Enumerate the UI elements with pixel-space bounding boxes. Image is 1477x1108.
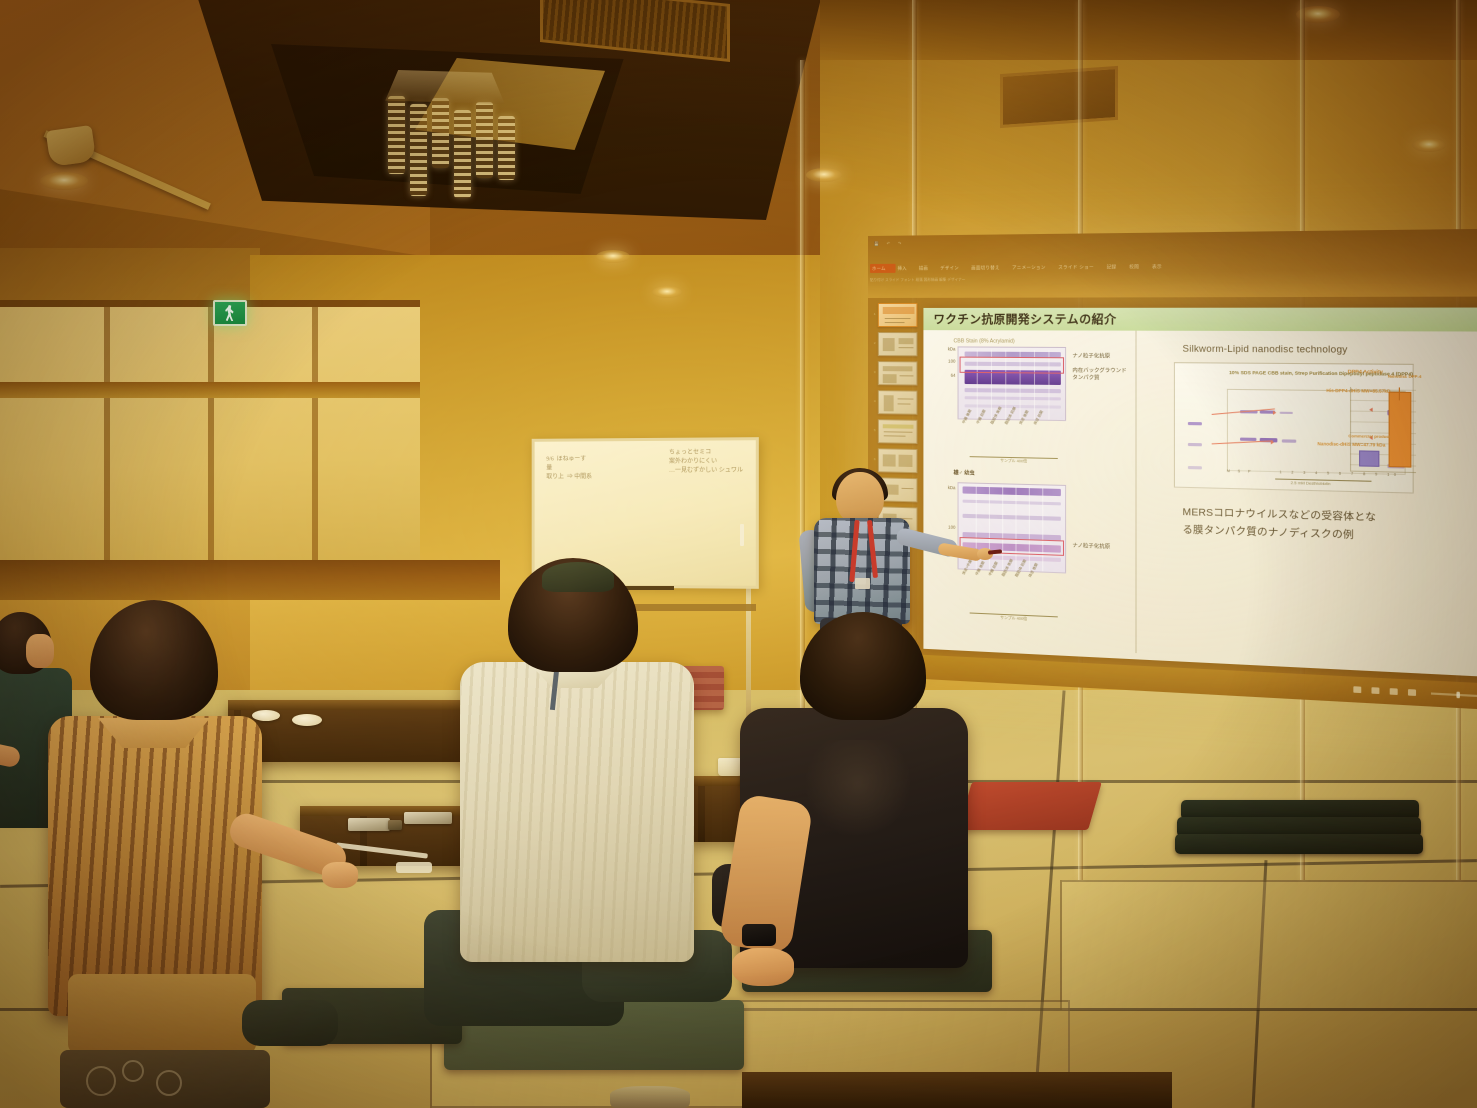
gel-a-callout-background: 内在バックグラウンド タンパク質 — [1072, 368, 1126, 383]
tab-home[interactable]: ホーム — [872, 266, 886, 272]
quick-access-toolbar[interactable]: 💾 ↶ ↷ — [874, 241, 901, 246]
slide-thumbnail[interactable]: 4 — [878, 390, 918, 415]
slide-thumbnail[interactable]: 5 — [878, 419, 918, 444]
save-icon[interactable]: 💾 — [874, 241, 879, 246]
slide-thumbnail[interactable]: 3 — [878, 361, 918, 385]
tab-slideshow[interactable]: スライド ショー — [1058, 264, 1094, 270]
thumbnail-number: 2 — [874, 341, 876, 345]
dpp4-activity-chart: DPP4 Activity Commercial product Nano — [1339, 370, 1419, 483]
chandelier — [370, 60, 530, 220]
audience-hair — [90, 600, 218, 720]
thumbnail-number: 6 — [874, 457, 876, 461]
slide-thumbnail[interactable]: 1 — [878, 303, 918, 327]
zoom-slider[interactable] — [1431, 693, 1477, 697]
whiteboard-marker[interactable] — [740, 524, 744, 546]
tab-draw[interactable]: 描画 — [919, 266, 928, 272]
downlight-icon — [652, 286, 682, 298]
tab-design[interactable]: デザイン — [940, 265, 959, 271]
gel-a-mw-label: 100 — [933, 358, 955, 363]
ribbon-group-labels: 貼り付け スライド フォント 段落 図形描画 編集 デザイナー — [870, 275, 1477, 292]
chart-title: DPP4 Activity — [1348, 370, 1383, 376]
presenter-plaid-shirt — [814, 518, 910, 624]
ribbon: 💾 ↶ ↷ ホーム 挿入 描画 デザイン 画面切り替え アニメーション スライド… — [868, 229, 1477, 298]
dpp4-axis-caption: 2.5 mM Desthiobiotin — [1291, 481, 1331, 486]
downlight-icon — [596, 250, 630, 263]
tab-view[interactable]: 表示 — [1152, 264, 1162, 270]
tab-transitions[interactable]: 画面切り替え — [971, 265, 1000, 271]
tshirt-print — [806, 740, 910, 836]
chart-bar-label-commercial: Commercial product — [1345, 434, 1393, 440]
exit-running-person-icon — [225, 305, 235, 321]
gel-a-caption: CBB Stain (8% Acrylamid) — [953, 338, 1014, 344]
normal-view-icon[interactable] — [1353, 686, 1361, 693]
fusuma-rail — [0, 382, 420, 398]
foreground-cushion — [60, 1050, 270, 1108]
audience-leg — [68, 974, 256, 1054]
zabuton-cushion-stack — [1175, 800, 1425, 870]
small-device — [388, 820, 402, 830]
slide-sorter-icon[interactable] — [1371, 687, 1379, 694]
audience-hair — [800, 612, 926, 720]
foreground-low-table — [742, 1072, 1172, 1108]
right-wall-header — [820, 0, 1477, 60]
ribbon-tabs[interactable]: ホーム 挿入 描画 デザイン 画面切り替え アニメーション スライド ショー 記… — [872, 264, 1162, 272]
slide-thumbnail[interactable]: 6 — [878, 448, 918, 473]
slide-column-divider — [1135, 331, 1136, 653]
fusuma-sliding-panels — [0, 300, 420, 600]
tab-record[interactable]: 記録 — [1107, 264, 1117, 270]
thumbnail-number: 3 — [874, 370, 876, 374]
thumbnail-number: 4 — [874, 399, 876, 403]
chart-bar-label-nanodisc: Nanodisc DPP-4 — [1382, 374, 1428, 380]
right-panel-heading: Silkworm-Lipid nanodisc technology — [1183, 343, 1348, 354]
audience-member-black-tee — [716, 612, 1016, 1032]
slide-title: ワクチン抗原開発システムの紹介 — [933, 311, 1116, 328]
smartphone[interactable] — [348, 818, 390, 831]
audience-shirt — [460, 662, 694, 962]
audience-cap — [542, 562, 614, 592]
tab-animations[interactable]: アニメーション — [1012, 265, 1046, 271]
audience-member-light-shirt — [432, 558, 732, 1028]
audience-member-striped-yukata — [32, 600, 352, 1108]
gel-a-callout-nanoparticle: ナノ粒子化抗原 — [1072, 353, 1110, 360]
downlight-icon — [1412, 138, 1446, 152]
presenter-head — [836, 472, 884, 524]
whiteboard-note-left: 9/6 ほねゅーす 量 取り上 ⇒ 中間系 — [546, 455, 592, 482]
dpp4-axis-labels: M S P — [1227, 469, 1254, 474]
audience-hand — [322, 862, 358, 888]
whiteboard-note-right: ちょっとセミコ 案外わかりにくい …一見むずかしい シュワル — [669, 448, 743, 476]
ceiling-speaker-icon — [1000, 66, 1118, 128]
slide-thumbnail[interactable]: 2 — [878, 332, 918, 356]
audience-foot — [242, 1000, 338, 1046]
gel-a-mw-label: kDa — [933, 346, 955, 351]
gel-a-footer-text: サンプル 400倍 — [1000, 459, 1027, 465]
thumbnail-number: 1 — [874, 312, 876, 316]
thumbnail-number: 5 — [874, 428, 876, 432]
reading-view-icon[interactable] — [1390, 688, 1398, 695]
undo-icon[interactable]: ↶ — [887, 241, 890, 246]
tab-insert[interactable]: 挿入 — [898, 266, 907, 272]
slideshow-icon[interactable] — [1408, 689, 1416, 696]
audience-hand — [732, 948, 794, 986]
redo-icon[interactable]: ↷ — [898, 241, 901, 246]
wristwatch — [742, 924, 776, 946]
gel-a-highlight-box — [960, 357, 1064, 374]
zoom-slider-knob[interactable] — [1456, 692, 1459, 698]
emergency-exit-sign — [213, 300, 247, 326]
downlight-icon — [806, 168, 842, 182]
downlight-icon — [40, 172, 88, 190]
chart-bar-nanodisc — [1389, 392, 1412, 468]
chart-error-bar — [1399, 387, 1400, 400]
presentation-room-scene: 💾 ↶ ↷ ホーム 挿入 描画 デザイン 画面切り替え アニメーション スライド… — [0, 0, 1477, 1108]
foreground-bowl — [610, 1086, 690, 1108]
chart-bar-commercial — [1359, 450, 1379, 467]
tab-review[interactable]: 校閲 — [1129, 264, 1139, 270]
audience-yukata — [48, 716, 262, 1016]
gel-b-caption: 雄♂ 幼虫 — [953, 470, 974, 478]
slide-caption: MERSコロナウイルスなどの受容体とな る膜タンパク質のナノディスクの例 — [1183, 505, 1417, 548]
power-adapter — [396, 862, 432, 873]
presenter-name-badge — [855, 578, 870, 589]
gel-a-mw-label: 64 — [933, 373, 955, 378]
gel-b-callout-nanoparticle: ナノ粒子化抗原 — [1072, 543, 1110, 552]
wall-dado-trim — [0, 560, 500, 600]
